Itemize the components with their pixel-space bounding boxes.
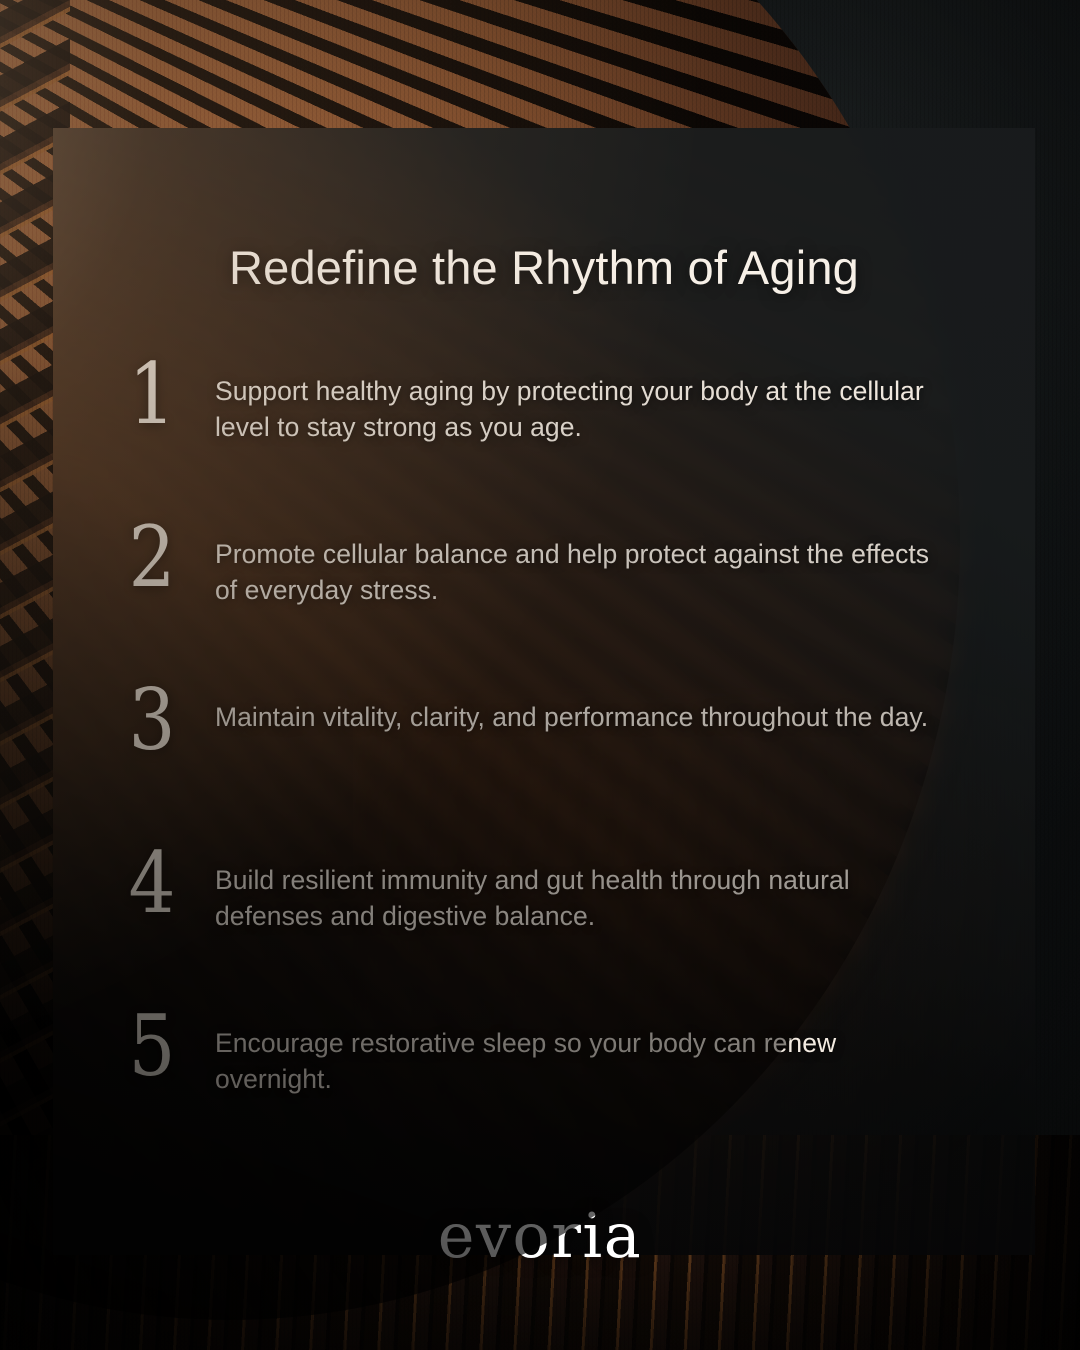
poster-canvas: Redefine the Rhythm of Aging 1 Support h… — [0, 0, 1080, 1350]
copper-fan-graphic — [0, 0, 960, 1320]
